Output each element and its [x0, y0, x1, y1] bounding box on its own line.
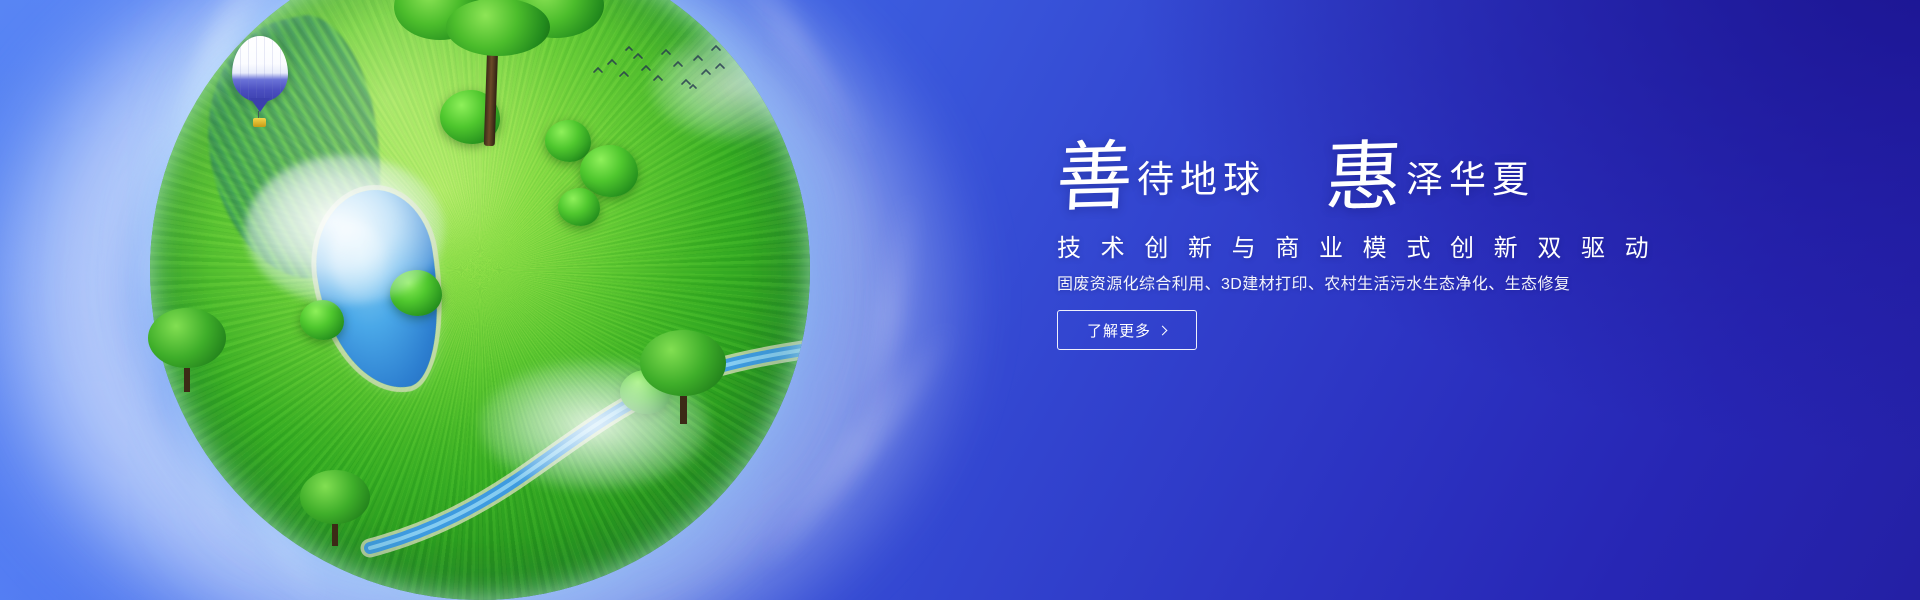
tree-trunk — [332, 524, 338, 546]
tree-icon — [300, 470, 370, 544]
headline-rest-2: 泽华夏 — [1406, 162, 1535, 199]
balloon-envelope — [232, 36, 288, 102]
learn-more-button[interactable]: 了解更多 — [1057, 310, 1197, 350]
hot-air-balloon-icon — [232, 36, 292, 128]
balloon-skirt — [250, 98, 270, 112]
banner-subtitle: 技 术 创 新 与 商 业 模 式 创 新 双 驱 动 — [1057, 228, 1655, 263]
banner-content: 善 待地球 惠 泽华夏 技 术 创 新 与 商 业 模 式 创 新 双 驱 动 … — [1055, 0, 1855, 600]
tree-canopy — [148, 308, 226, 368]
headline-big-char-2: 惠 — [1324, 144, 1403, 213]
hero-banner: 善 待地球 惠 泽华夏 技 术 创 新 与 商 业 模 式 创 新 双 驱 动 … — [0, 0, 1920, 600]
headline-phrase-2: 惠 泽华夏 — [1324, 140, 1535, 207]
bird-flock-icon — [590, 42, 730, 94]
tree-trunk — [184, 368, 190, 392]
learn-more-label: 了解更多 — [1087, 320, 1151, 341]
balloon-gores — [232, 36, 288, 102]
chevron-right-icon — [1158, 325, 1168, 335]
tree-icon — [148, 308, 226, 390]
tree-canopy — [446, 0, 550, 56]
banner-description: 固废资源化综合利用、3D建材打印、农村生活污水生态净化、生态修复 — [1057, 270, 1570, 294]
headline-big-char-1: 善 — [1055, 144, 1134, 213]
page-title: 善 待地球 惠 泽华夏 — [1055, 140, 1535, 207]
tree-canopy — [640, 330, 726, 396]
balloon-basket — [253, 118, 266, 127]
tree-canopy — [300, 470, 370, 524]
headline-phrase-1: 善 待地球 — [1055, 140, 1266, 207]
tree-trunk — [680, 396, 687, 424]
headline-rest-1: 待地球 — [1137, 162, 1266, 199]
tree-icon — [640, 330, 726, 422]
tree-icon — [390, 0, 620, 150]
